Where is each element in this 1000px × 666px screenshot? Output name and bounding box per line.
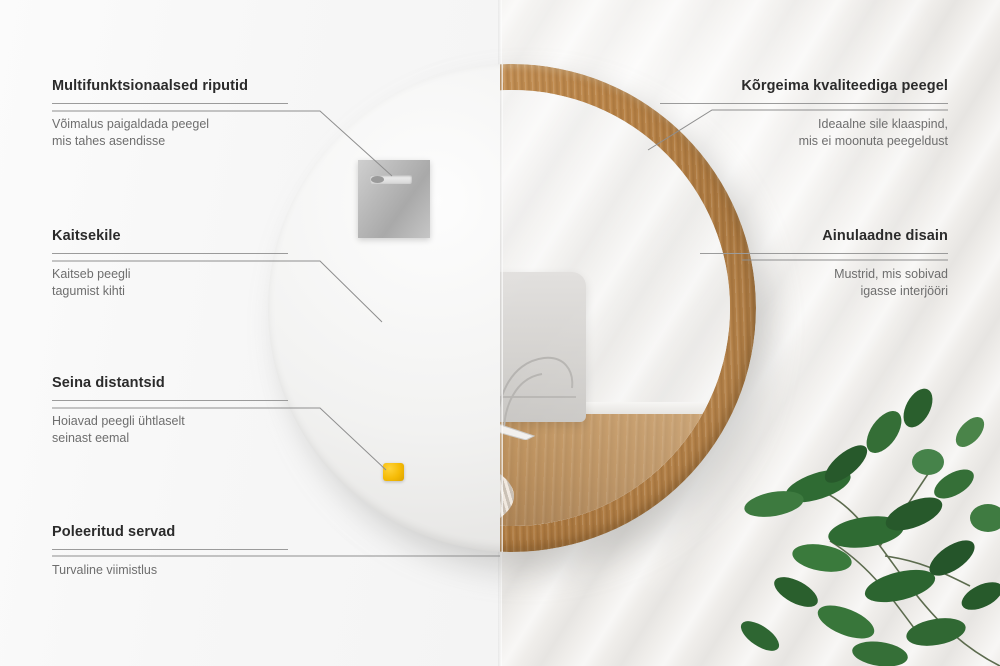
callout-poleeritud-servad: Poleeritud servad Turvaline viimistlus [52,524,288,579]
callout-desc-line2: tagumist kihti [52,284,125,298]
callout-seina-distantsid: Seina distantsid Hoiavad peegli ühtlasel… [52,375,288,447]
wall-spacer [383,463,404,481]
callout-desc: Mustrid, mis sobivad igasse interjööri [700,266,948,300]
callout-rule [700,253,948,254]
callout-desc: Kaitseb peegli tagumist kihti [52,266,288,300]
callout-desc-line1: Ideaalne sile klaaspind, [818,117,948,131]
hanger-keyhole-slot [370,175,412,184]
callout-rule [52,103,288,104]
callout-title: Kaitsekile [52,228,288,244]
callout-desc: Turvaline viimistlus [52,562,288,579]
callout-desc-line1: Võimalus paigaldada peegel [52,117,209,131]
reflected-metal-chair [490,344,582,440]
hanger-plate [358,160,430,238]
callout-rule [52,549,288,550]
callout-title: Kõrgeima kvaliteediga peegel [660,78,948,94]
foliage-branch [670,336,1000,666]
callout-desc: Hoiavad peegli ühtlaselt seinast eemal [52,413,288,447]
callout-title: Ainulaadne disain [700,228,948,244]
callout-rule [660,103,948,104]
callout-desc-line1: Turvaline viimistlus [52,563,157,577]
callout-desc-line2: igasse interjööri [860,284,948,298]
callout-title: Seina distantsid [52,375,288,391]
callout-multifunktsionaalsed-riputid: Multifunktsionaalsed riputid Võimalus pa… [52,78,288,150]
callout-rule [52,253,288,254]
mirror-halves-seam [500,64,503,552]
callout-desc-line2: mis tahes asendisse [52,134,165,148]
callout-kaitsekile: Kaitsekile Kaitseb peegli tagumist kihti [52,228,288,300]
callout-rule [52,400,288,401]
callout-desc-line1: Hoiavad peegli ühtlaselt [52,414,185,428]
callout-desc-line2: mis ei moonuta peegeldust [799,134,948,148]
callout-title: Multifunktsionaalsed riputid [52,78,288,94]
callout-desc-line2: seinast eemal [52,431,129,445]
callout-ainulaadne-disain: Ainulaadne disain Mustrid, mis sobivad i… [700,228,948,300]
callout-desc-line1: Kaitseb peegli [52,267,131,281]
callout-title: Poleeritud servad [52,524,288,540]
callout-desc-line1: Mustrid, mis sobivad [834,267,948,281]
callout-korgeima-kvaliteediga-peegel: Kõrgeima kvaliteediga peegel Ideaalne si… [660,78,948,150]
callout-desc: Ideaalne sile klaaspind, mis ei moonuta … [660,116,948,150]
callout-desc: Võimalus paigaldada peegel mis tahes ase… [52,116,288,150]
infographic-canvas: Multifunktsionaalsed riputid Võimalus pa… [0,0,1000,666]
